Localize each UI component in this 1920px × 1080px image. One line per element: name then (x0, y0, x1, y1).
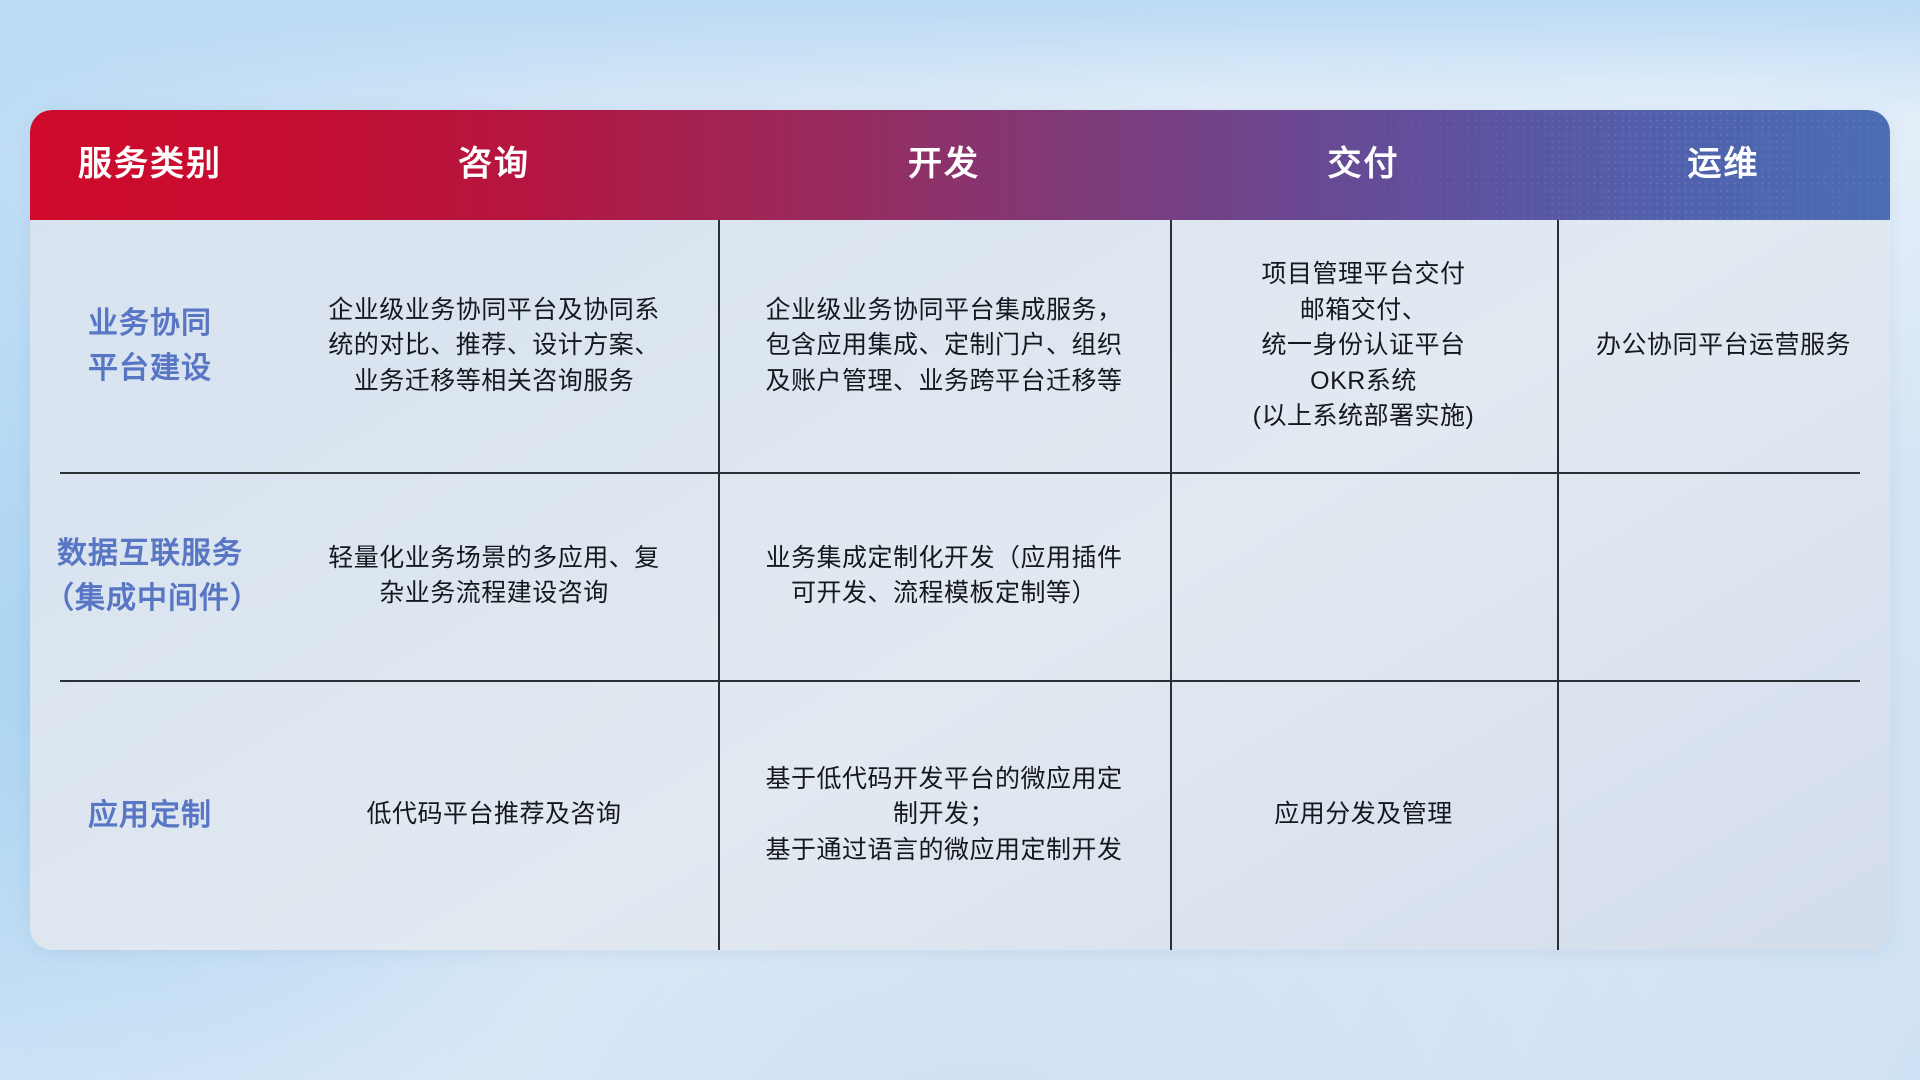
cell-delivery: 项目管理平台交付 邮箱交付、 统一身份认证平台 OKR系统 (以上系统部署实施) (1170, 220, 1557, 472)
cell-text: 应用分发及管理 (1274, 797, 1453, 833)
cell-development: 业务集成定制化开发（应用插件 可开发、流程模板定制等） (718, 472, 1170, 680)
cell-text: 办公协同平台运营服务 (1596, 328, 1851, 364)
category-label: 应用定制 (88, 793, 212, 838)
category-label: 业务协同 平台建设 (88, 301, 212, 391)
category-label: 数据互联服务 （集成中间件） (44, 531, 256, 621)
background-top-gradient (0, 0, 1920, 120)
cell-operations (1557, 680, 1890, 950)
column-header-service-category: 服务类别 (30, 146, 270, 183)
cell-operations: 办公协同平台运营服务 (1557, 220, 1890, 472)
cell-consulting: 企业级业务协同平台及协同系 统的对比、推荐、设计方案、 业务迁移等相关咨询服务 (270, 220, 718, 472)
table-header-row: 服务类别 咨询 开发 交付 运维 (30, 110, 1890, 220)
cell-operations (1557, 472, 1890, 680)
column-header-delivery: 交付 (1170, 146, 1557, 183)
cell-text: 项目管理平台交付 邮箱交付、 统一身份认证平台 OKR系统 (以上系统部署实施) (1253, 257, 1475, 435)
table-row: 数据互联服务 （集成中间件） 轻量化业务场景的多应用、复 杂业务流程建设咨询 业… (30, 472, 1890, 680)
table-body: 业务协同 平台建设 企业级业务协同平台及协同系 统的对比、推荐、设计方案、 业务… (30, 220, 1890, 950)
column-header-development: 开发 (718, 146, 1170, 183)
cell-text: 轻量化业务场景的多应用、复 杂业务流程建设咨询 (328, 541, 660, 612)
cell-text: 基于低代码开发平台的微应用定 制开发； 基于通过语言的微应用定制开发 (765, 762, 1122, 869)
cell-delivery (1170, 472, 1557, 680)
cell-category: 应用定制 (30, 680, 270, 950)
cell-delivery: 应用分发及管理 (1170, 680, 1557, 950)
cell-category: 数据互联服务 （集成中间件） (30, 472, 270, 680)
table-row: 应用定制 低代码平台推荐及咨询 基于低代码开发平台的微应用定 制开发； 基于通过… (30, 680, 1890, 950)
cell-consulting: 轻量化业务场景的多应用、复 杂业务流程建设咨询 (270, 472, 718, 680)
cell-text: 业务集成定制化开发（应用插件 可开发、流程模板定制等） (765, 541, 1122, 612)
cell-development: 基于低代码开发平台的微应用定 制开发； 基于通过语言的微应用定制开发 (718, 680, 1170, 950)
column-header-consulting: 咨询 (270, 146, 718, 183)
cell-development: 企业级业务协同平台集成服务， 包含应用集成、定制门户、组织 及账户管理、业务跨平… (718, 220, 1170, 472)
table-row: 业务协同 平台建设 企业级业务协同平台及协同系 统的对比、推荐、设计方案、 业务… (30, 220, 1890, 472)
cell-consulting: 低代码平台推荐及咨询 (270, 680, 718, 950)
cell-category: 业务协同 平台建设 (30, 220, 270, 472)
cell-text: 企业级业务协同平台集成服务， 包含应用集成、定制门户、组织 及账户管理、业务跨平… (765, 293, 1122, 400)
cell-text: 企业级业务协同平台及协同系 统的对比、推荐、设计方案、 业务迁移等相关咨询服务 (328, 293, 660, 400)
service-matrix-table: 服务类别 咨询 开发 交付 运维 业务协同 平台建设 企业级业务协同平台及协同系… (30, 110, 1890, 950)
column-header-operations: 运维 (1557, 146, 1890, 183)
cell-text: 低代码平台推荐及咨询 (366, 797, 621, 833)
